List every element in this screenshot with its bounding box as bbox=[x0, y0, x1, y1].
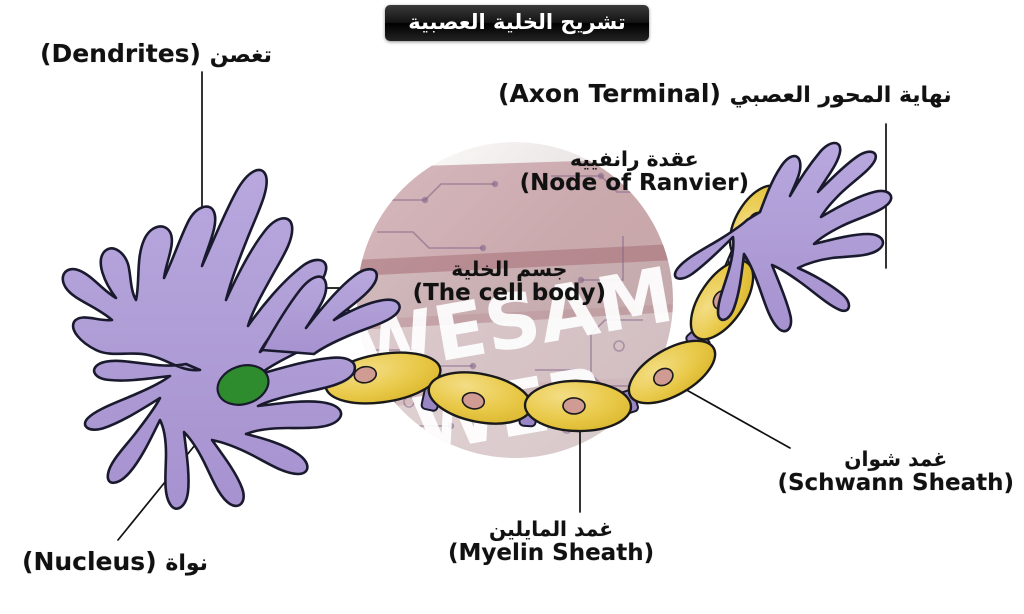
page-title: تشريح الخلية العصبية bbox=[408, 12, 626, 35]
label-schwann-sheath-arabic: غمد شوان bbox=[777, 448, 1014, 471]
label-cell-body-english: (The cell body) bbox=[413, 281, 606, 307]
label-node-of-ranvier: عقدة رانفييه (Node of Ranvier) bbox=[520, 148, 749, 196]
leader-schwann-sheath bbox=[683, 388, 790, 448]
label-axon-terminal-english: (Axon Terminal) bbox=[498, 79, 721, 108]
diagram-canvas: WESAM WEB bbox=[0, 0, 1024, 614]
label-dendrites: تغصن (Dendrites) bbox=[40, 40, 272, 69]
label-cell-body: جسم الخلية (The cell body) bbox=[413, 258, 606, 306]
label-nucleus-arabic: نواة bbox=[165, 551, 208, 576]
label-dendrites-arabic: تغصن bbox=[210, 43, 272, 68]
label-axon-terminal: نهاية المحور العصبي (Axon Terminal) bbox=[498, 80, 952, 109]
label-myelin-sheath: غمد المايلين (Myelin Sheath) bbox=[448, 518, 654, 566]
label-node-of-ranvier-arabic: عقدة رانفييه bbox=[520, 148, 749, 171]
title-banner: تشريح الخلية العصبية bbox=[385, 5, 649, 41]
label-schwann-sheath: غمد شوان (Schwann Sheath) bbox=[777, 448, 1014, 496]
label-schwann-sheath-english: (Schwann Sheath) bbox=[777, 471, 1014, 497]
label-axon-terminal-arabic: نهاية المحور العصبي bbox=[730, 83, 952, 108]
label-myelin-sheath-arabic: غمد المايلين bbox=[448, 518, 654, 541]
label-dendrites-english: (Dendrites) bbox=[40, 39, 201, 68]
label-node-of-ranvier-english: (Node of Ranvier) bbox=[520, 171, 749, 197]
label-nucleus: نواة (Nucleus) bbox=[22, 548, 208, 577]
label-myelin-sheath-english: (Myelin Sheath) bbox=[448, 541, 654, 567]
label-cell-body-arabic: جسم الخلية bbox=[413, 258, 606, 281]
label-nucleus-english: (Nucleus) bbox=[22, 547, 157, 576]
